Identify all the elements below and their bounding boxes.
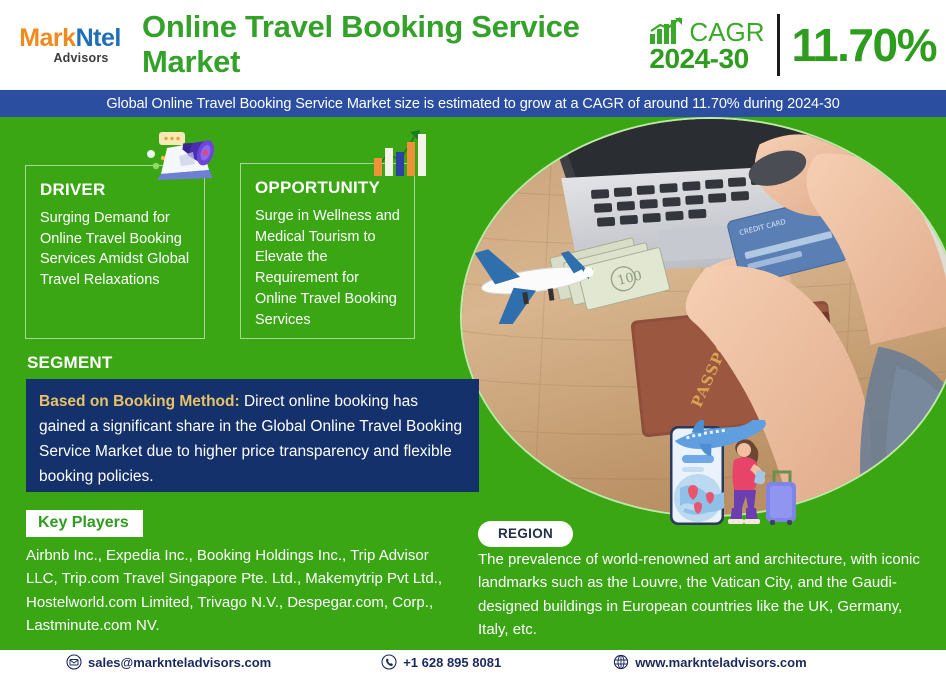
footer-phone-text: +1 628 895 8081 <box>403 655 501 670</box>
opportunity-card: OPPORTUNITY Surge in Wellness and Medica… <box>240 163 415 339</box>
logo-wordmark: MarkNtel <box>10 26 130 51</box>
laptop-megaphone-icon <box>143 128 223 180</box>
key-players-label: Key Players <box>26 510 143 537</box>
segment-label: SEGMENT <box>27 353 112 373</box>
logo-subtitle: Advisors <box>10 52 130 65</box>
footer-email[interactable]: sales@marknteladvisors.com <box>66 654 271 670</box>
segment-box: Based on Booking Method: Direct online b… <box>26 379 479 492</box>
segment-highlight: Based on Booking Method: <box>39 393 240 410</box>
cagr-years: 2024-30 <box>649 45 764 73</box>
region-text: The prevalence of world-renowned art and… <box>478 548 922 641</box>
footer-bar: sales@marknteladvisors.com +1 628 895 80… <box>0 650 946 674</box>
bar-chart-growth-icon <box>649 17 685 45</box>
globe-icon <box>613 654 629 670</box>
cagr-value: 11.70% <box>780 18 936 72</box>
logo-mark-text: Mark <box>19 24 75 52</box>
logo-ntel-text: Ntel <box>76 24 121 52</box>
footer-website-text: www.marknteladvisors.com <box>635 655 806 670</box>
segment-text: Based on Booking Method: Direct online b… <box>39 389 465 489</box>
banner-text: Global Online Travel Booking Service Mar… <box>106 96 839 112</box>
cagr-label: CAGR <box>689 19 764 45</box>
region-label: REGION <box>478 521 573 547</box>
footer-phone[interactable]: +1 628 895 8081 <box>381 654 501 670</box>
header-bar: MarkNtel Advisors Online Travel Booking … <box>0 0 946 90</box>
footer-email-text: sales@marknteladvisors.com <box>88 655 271 670</box>
opportunity-title: OPPORTUNITY <box>255 178 400 198</box>
footer-website[interactable]: www.marknteladvisors.com <box>613 654 806 670</box>
market-summary-banner: Global Online Travel Booking Service Mar… <box>0 90 946 117</box>
infographic-page: MarkNtel Advisors Online Travel Booking … <box>0 0 946 674</box>
cagr-label-row: CAGR <box>649 17 764 45</box>
envelope-icon <box>66 654 82 670</box>
driver-title: DRIVER <box>40 180 190 200</box>
growth-bar-chart-icon <box>372 128 428 176</box>
marknteladvisors-logo[interactable]: MarkNtel Advisors <box>0 26 130 65</box>
mobile-travel-booking-illustration <box>660 420 820 525</box>
cagr-label-group: CAGR 2024-30 <box>649 17 776 73</box>
phone-icon <box>381 654 397 670</box>
opportunity-body: Surge in Wellness and Medical Tourism to… <box>255 206 400 330</box>
cagr-block: CAGR 2024-30 11.70% <box>649 14 946 76</box>
key-players-text: Airbnb Inc., Expedia Inc., Booking Holdi… <box>26 544 460 637</box>
driver-card: DRIVER Surging Demand for Online Travel … <box>25 165 205 339</box>
page-title: Online Travel Booking Service Market <box>130 10 649 79</box>
driver-body: Surging Demand for Online Travel Booking… <box>40 208 190 291</box>
